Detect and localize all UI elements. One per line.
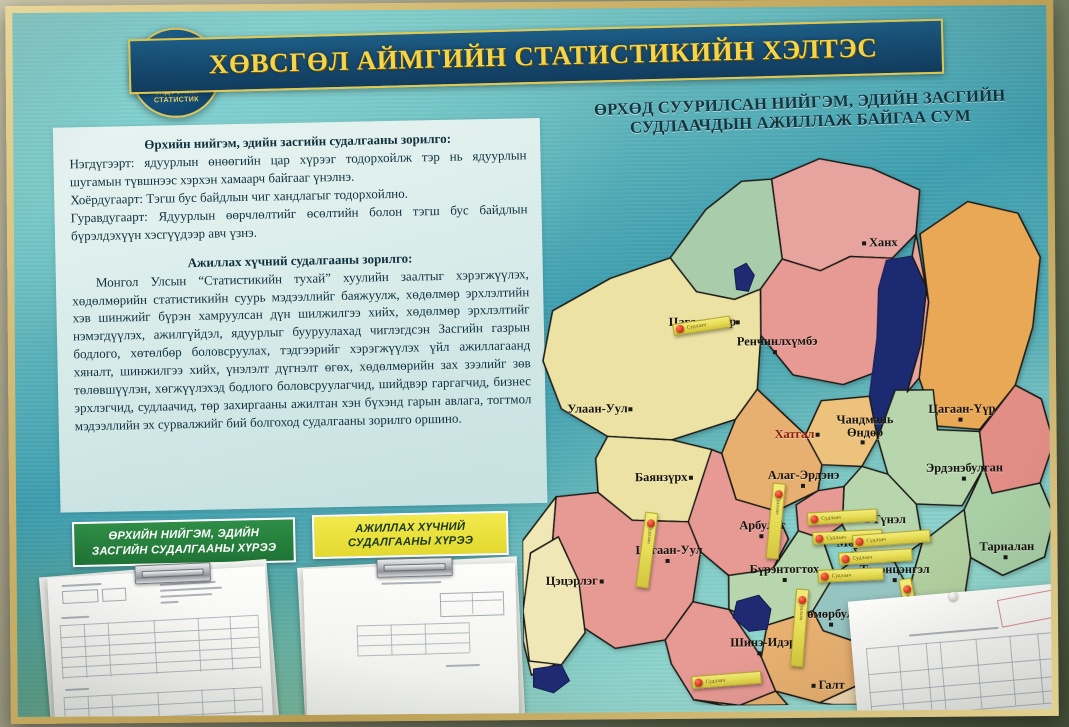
map-sum-label: Жаргалант xyxy=(731,712,794,717)
caption-yellow-line-2: СУДАЛГААНЫ ХҮРЭЭ xyxy=(348,534,474,551)
board-header-banner: ХӨВСГӨЛ АЙМГИЙН СТАТИСТИКИЙН ХЭЛТЭС xyxy=(128,19,944,95)
binder-clip-left[interactable] xyxy=(134,562,211,584)
researcher-tag-label: Судлаач xyxy=(826,534,846,541)
section2-body: Монгол Улсын “Статистикийн тухай” хуулий… xyxy=(72,265,532,436)
push-pin-icon xyxy=(694,678,703,687)
pinned-survey-schedule-form[interactable] xyxy=(848,582,1052,717)
researcher-tag-label: Судлаач xyxy=(852,554,872,561)
map-sum-center-dot xyxy=(689,476,693,480)
push-pin-icon xyxy=(815,534,823,542)
map-sum-center-dot xyxy=(1003,555,1007,559)
map-sum-center-dot xyxy=(962,477,966,481)
researcher-tag-label: Судлаач xyxy=(798,602,804,621)
map-sum-center-dot xyxy=(628,407,632,411)
map-sum-center-dot xyxy=(773,350,777,354)
page-title: ХӨВСГӨЛ АЙМГИЙН СТАТИСТИКИЙН ХЭЛТЭС xyxy=(128,19,944,95)
push-pin-icon xyxy=(798,596,807,605)
map-sum-center-dot xyxy=(783,578,787,582)
researcher-tag-label: Судлаач xyxy=(705,677,725,685)
map-sum-center-dot xyxy=(600,579,604,583)
map-sum-center-dot xyxy=(757,651,761,655)
researcher-tag-label: Судлаач xyxy=(866,536,886,544)
household-survey-listing-sheet[interactable] xyxy=(47,566,273,717)
map-sum-center-dot xyxy=(862,241,866,245)
caption-box-labour-force-survey: АЖИЛЛАХ ХҮЧНИЙ СУДАЛГААНЫ ХҮРЭЭ xyxy=(312,511,509,559)
push-pin-icon xyxy=(774,490,783,499)
map-sum-center-dot xyxy=(736,320,740,324)
map-title: ӨРХӨД СУУРИЛСАН НИЙГЭМ, ЭДИЙН ЗАСГИЙН СУ… xyxy=(545,84,1052,141)
logo-line-2: СТАТИСТИК xyxy=(154,95,199,104)
map-sum-center-dot xyxy=(760,534,764,538)
push-pin-icon xyxy=(675,324,684,333)
push-pin-form-top[interactable] xyxy=(949,592,958,601)
push-pin-icon xyxy=(810,515,818,523)
map-sum-center-dot xyxy=(666,559,670,563)
researcher-tag-label: Судлаач xyxy=(645,525,652,544)
map-sum-center-dot xyxy=(958,418,962,422)
map-sum-center-dot xyxy=(893,578,897,582)
push-pin-icon xyxy=(841,554,849,562)
form-stamp xyxy=(997,588,1052,628)
push-pin-icon xyxy=(646,519,655,528)
map-sum-center-dot xyxy=(860,440,864,444)
push-pin-icon xyxy=(821,572,829,580)
push-pin-icon xyxy=(855,537,864,546)
map-sum-center-dot xyxy=(812,684,816,688)
map-sum-center-dot xyxy=(829,623,833,627)
map-sum-center-dot xyxy=(816,433,820,437)
researcher-tag-label: Судлаач xyxy=(774,496,781,515)
researcher-tag-label: Судлаач xyxy=(821,514,841,521)
poster-board: ҮНДЭСНИЙ СТАТИСТИК ХӨВСГӨЛ АЙМГИЙН СТАТИ… xyxy=(12,5,1051,717)
researcher-tag-label: Судлаач xyxy=(832,572,852,579)
map-sum-center-dot xyxy=(801,484,805,488)
objectives-text-panel: Өрхийн нийгэм, эдийн засгийн судалгааны … xyxy=(53,118,548,513)
binder-clip-mid[interactable] xyxy=(376,557,452,578)
poster-board-frame: ҮНДЭСНИЙ СТАТИСТИК ХӨВСГӨЛ АЙМГИЙН СТАТИ… xyxy=(5,0,1059,724)
researcher-tag-label: Судлаач xyxy=(686,322,706,331)
labour-force-survey-listing-sheet[interactable] xyxy=(303,563,520,717)
